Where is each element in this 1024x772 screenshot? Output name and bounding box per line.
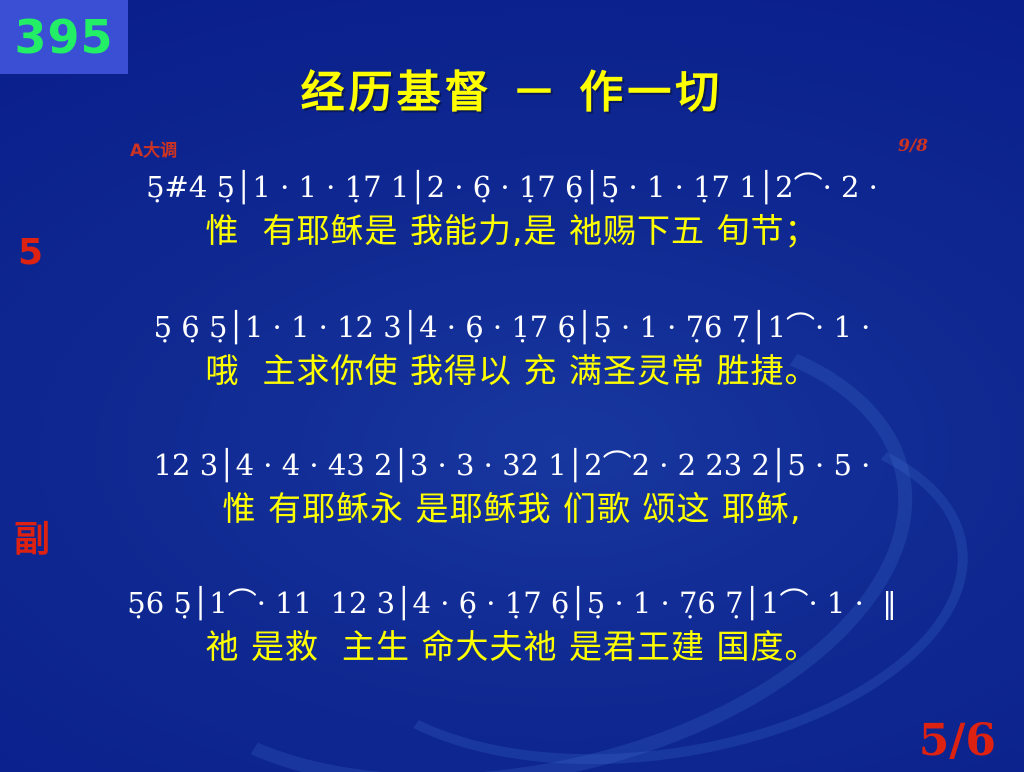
music-line-2: 5̣ 6̣ 5̣│1 · 1 · 12 3│4 · 6̣ · 1̣7 6̣│5̣… [0, 312, 1024, 390]
notation-line-3: 12 3│4 · 4 · 43 2│3 · 3 · 32 1│2⌒2 · 2 2… [0, 450, 1024, 482]
lyrics-line-1: 惟 有耶稣是 我能力,是 祂赐下五 旬节； [0, 212, 1024, 250]
notation-line-1: 5̣#4 5̣│1 · 1 · 1̣7 1│2 · 6̣ · 1̣7 6̣│5̣… [0, 172, 1024, 204]
lyrics-line-3: 惟 有耶稣永 是耶稣我 们歌 颂这 耶稣, [0, 490, 1024, 528]
verse-marker-1: 5 [18, 232, 43, 273]
key-signature-label: A大调 [130, 136, 177, 161]
lyrics-line-4: 祂 是救 主生 命大夫祂 是君王建 国度。 [0, 628, 1024, 666]
page-title: 经历基督 － 作一切 [0, 56, 1024, 120]
background-swoosh-2 [309, 377, 990, 772]
lyrics-line-2: 哦 主求你使 我得以 充 满圣灵常 胜捷。 [0, 352, 1024, 390]
music-line-3: 12 3│4 · 4 · 43 2│3 · 3 · 32 1│2⌒2 · 2 2… [0, 450, 1024, 528]
page-number: 5/6 [919, 715, 996, 766]
notation-line-4: 5̣6 5̣│1⌒· 11 12 3│4 · 6̣ · 1̣7 6̣│5̣ · … [0, 588, 1024, 620]
notation-line-2: 5̣ 6̣ 5̣│1 · 1 · 12 3│4 · 6̣ · 1̣7 6̣│5̣… [0, 312, 1024, 344]
time-signature-label: 9/8 [898, 136, 928, 156]
music-line-4: 5̣6 5̣│1⌒· 11 12 3│4 · 6̣ · 1̣7 6̣│5̣ · … [0, 588, 1024, 666]
hymn-number: 395 [14, 14, 113, 60]
chorus-marker: 副 [14, 510, 50, 562]
music-line-1: 5̣#4 5̣│1 · 1 · 1̣7 1│2 · 6̣ · 1̣7 6̣│5̣… [0, 172, 1024, 250]
hymn-slide: 395 经历基督 － 作一切 A大调 9/8 5̣#4 5̣│1 · 1 · 1… [0, 0, 1024, 772]
